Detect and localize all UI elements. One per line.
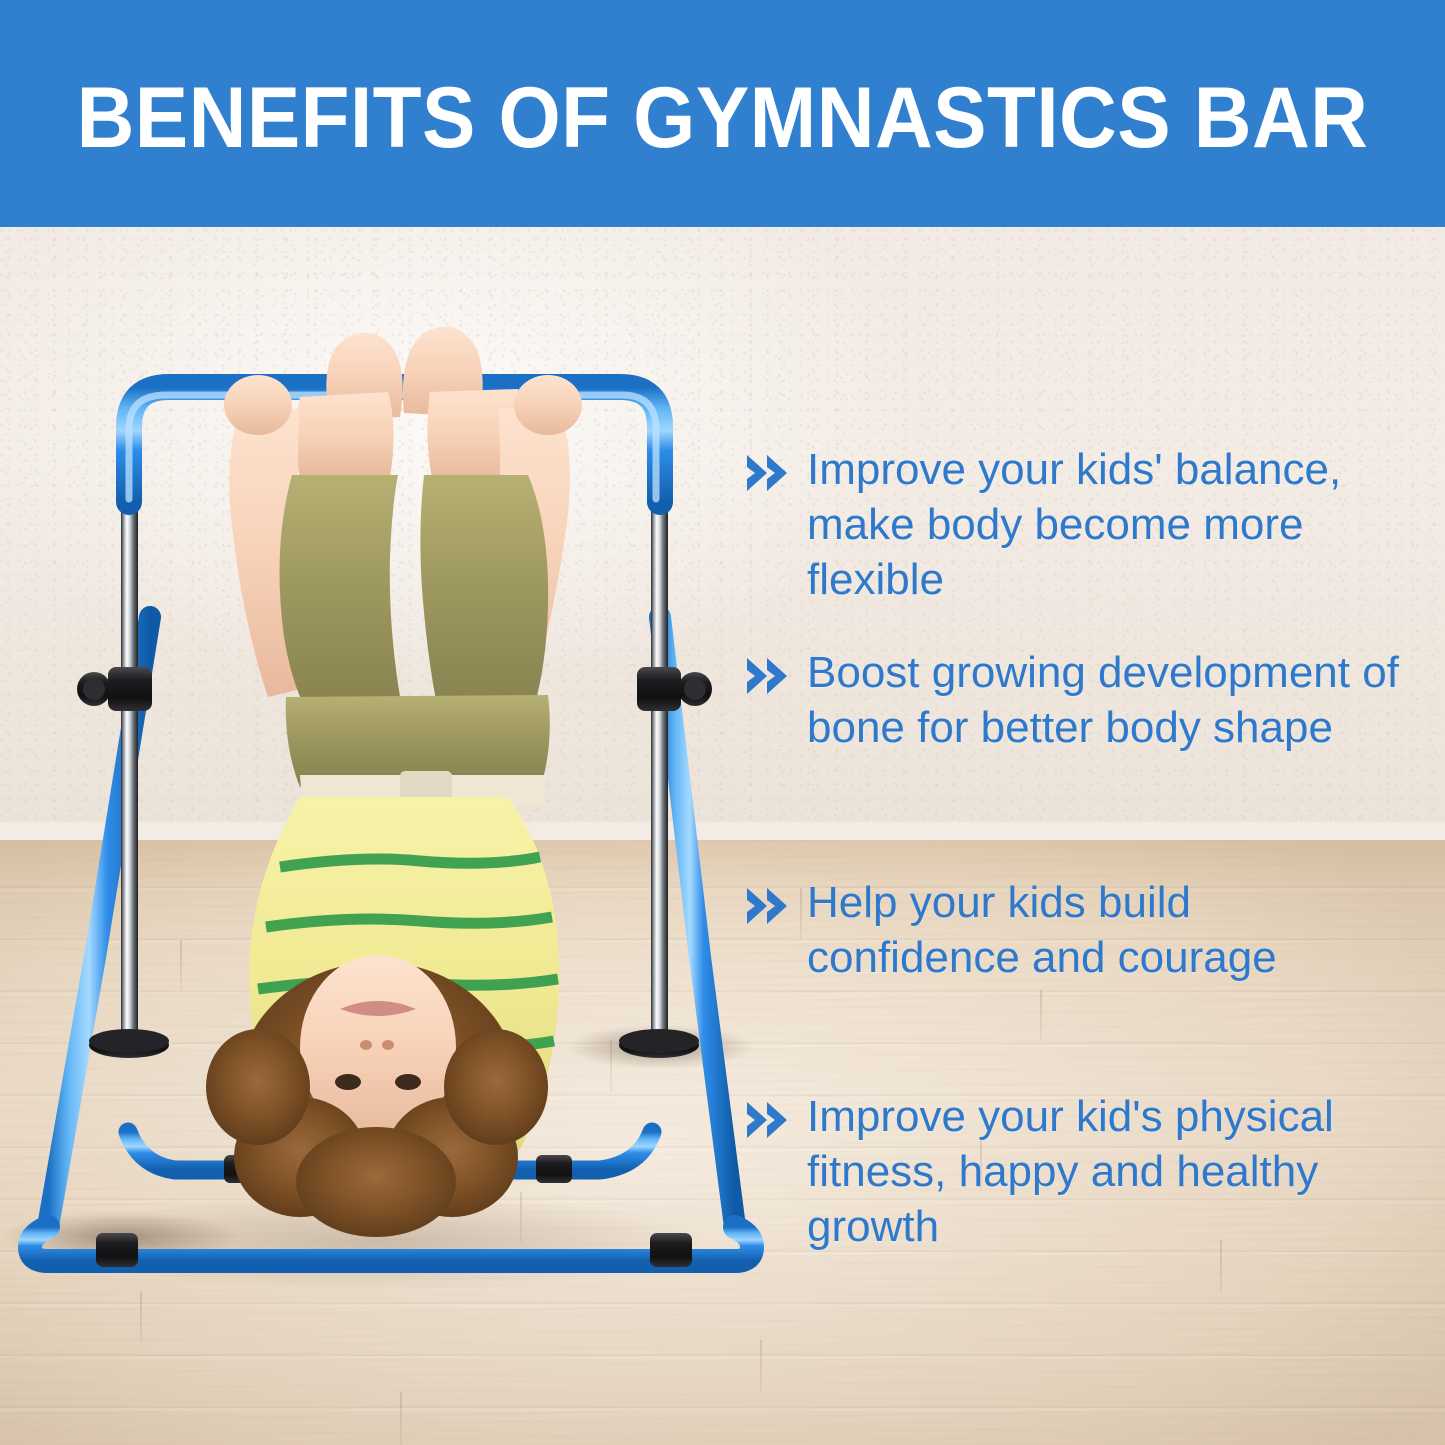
double-chevron-right-icon (745, 885, 791, 927)
benefit-text-1: Improve your kids' balance, make body be… (807, 442, 1445, 607)
benefit-item-3: Help your kids build confidence and cour… (745, 875, 1277, 985)
benefit-text-4: Improve your kid's physical fitness, hap… (807, 1089, 1445, 1254)
page-title: BENEFITS OF GYMNASTICS BAR (51, 72, 1395, 164)
double-chevron-right-icon (745, 452, 791, 494)
benefits-list: Improve your kids' balance, make body be… (0, 227, 1445, 1445)
benefit-text-3: Help your kids build confidence and cour… (807, 875, 1277, 985)
double-chevron-right-icon (745, 1099, 791, 1141)
benefit-item-2: Boost growing development of bone for be… (745, 645, 1399, 755)
double-chevron-right-icon (745, 655, 791, 697)
infographic-page: BENEFITS OF GYMNASTICS BAR (0, 0, 1445, 1445)
header-banner: BENEFITS OF GYMNASTICS BAR (0, 0, 1445, 227)
benefit-item-4: Improve your kid's physical fitness, hap… (745, 1089, 1445, 1254)
benefit-text-2: Boost growing development of bone for be… (807, 645, 1399, 755)
benefit-item-1: Improve your kids' balance, make body be… (745, 442, 1445, 607)
